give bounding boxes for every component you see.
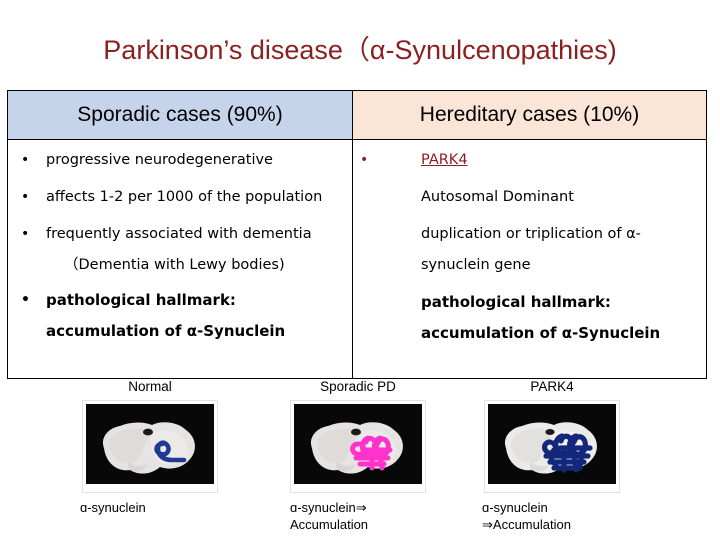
list-item: • progressive neurodegenerative	[8, 150, 352, 172]
mechanism-entry-line2: synuclein gene	[353, 255, 706, 277]
table-header-row: Sporadic cases (90%) Hereditary cases (1…	[8, 91, 707, 140]
hallmark-heading: pathological hallmark:	[353, 292, 706, 314]
aqueduct-marker	[545, 429, 554, 435]
inheritance-label: Autosomal Dominant	[421, 189, 574, 205]
figure-title: Sporadic PD	[258, 378, 458, 396]
figure-panel-park4: PARK4	[452, 378, 652, 533]
brain-section-image	[488, 404, 616, 484]
figure-caption: ɑ-synuclein ⇒Accumulation	[452, 499, 652, 533]
inheritance-entry: Autosomal Dominant	[353, 187, 706, 209]
aqueduct-marker	[143, 429, 153, 436]
bullet-icon: •	[360, 150, 368, 170]
figure-strip: Normal ɑ-synuclein S	[0, 378, 720, 540]
figure-caption: ɑ-synuclein⇒ Accumulation	[258, 499, 458, 533]
brain-section-image	[294, 404, 422, 484]
figure-frame	[484, 400, 620, 493]
brain-section-image	[86, 404, 214, 484]
hallmark-detail: accumulation of α-Synuclein	[353, 323, 706, 345]
list-item-label: frequently associated with dementia	[46, 226, 312, 242]
hallmark-detail-label: accumulation of α-Synuclein	[46, 322, 285, 340]
hallmark-heading-label: pathological hallmark:	[46, 291, 236, 309]
list-subitem-label: （Dementia with Lewy bodies)	[64, 257, 285, 273]
bullet-icon: •	[21, 224, 29, 244]
hallmark-heading-label: pathological hallmark:	[421, 293, 611, 311]
list-subitem: （Dementia with Lewy bodies)	[8, 255, 352, 277]
list-item-label: progressive neurodegenerative	[46, 152, 273, 168]
cell-sporadic-content: • progressive neurodegenerative • affect…	[8, 140, 353, 379]
list-item: • affects 1-2 per 1000 of the population	[8, 187, 352, 209]
hallmark-detail: accumulation of α-Synuclein	[8, 321, 352, 343]
list-item-label: affects 1-2 per 1000 of the population	[46, 189, 322, 205]
list-item: • frequently associated with dementia	[8, 224, 352, 246]
figure-frame	[82, 400, 218, 493]
aqueduct-marker	[351, 429, 361, 436]
figure-panel-normal: Normal ɑ-synuclein	[50, 378, 250, 516]
bullet-icon: •	[21, 187, 29, 207]
gene-entry: • PARK4	[353, 150, 706, 172]
figure-frame	[290, 400, 426, 493]
hallmark-detail-label: accumulation of α-Synuclein	[421, 324, 660, 342]
bullet-icon: •	[21, 290, 30, 310]
figure-title: PARK4	[452, 378, 652, 396]
mechanism-entry-line1: duplication or triplication of α-	[353, 224, 706, 246]
hallmark-heading: • pathological hallmark:	[8, 290, 352, 312]
bullet-icon: •	[21, 150, 29, 170]
gene-label: PARK4	[421, 152, 468, 168]
figure-title: Normal	[50, 378, 250, 396]
page-title: Parkinson’s disease（α-Synulcenopathies)	[0, 28, 720, 67]
cell-hereditary-content: • PARK4 Autosomal Dominant duplication o…	[353, 140, 707, 379]
header-cell-sporadic: Sporadic cases (90%)	[8, 91, 353, 140]
header-cell-hereditary: Hereditary cases (10%)	[353, 91, 707, 140]
mechanism-label-line1: duplication or triplication of α-	[421, 226, 641, 242]
figure-panel-sporadic: Sporadic PD	[258, 378, 458, 533]
mechanism-label-line2: synuclein gene	[421, 257, 531, 273]
comparison-table: Sporadic cases (90%) Hereditary cases (1…	[7, 90, 707, 379]
table-body-row: • progressive neurodegenerative • affect…	[8, 140, 707, 379]
figure-caption: ɑ-synuclein	[50, 499, 250, 516]
